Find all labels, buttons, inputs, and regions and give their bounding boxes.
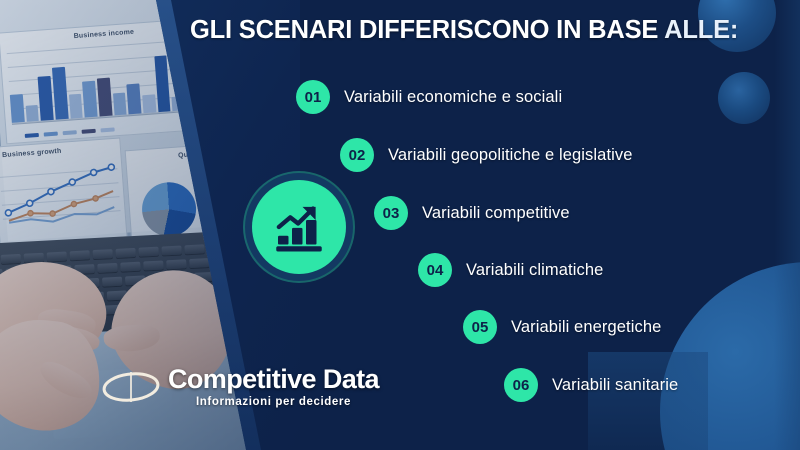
- list-item-number: 03: [374, 196, 408, 230]
- list-item-number: 02: [340, 138, 374, 172]
- logo-tagline: Informazioni per decidere: [168, 396, 379, 408]
- list-item-number: 05: [463, 310, 497, 344]
- list-item[interactable]: 05 Variabili energetiche: [463, 310, 661, 344]
- logo-text: Competitive Data Informazioni per decide…: [168, 366, 379, 408]
- list-item-label: Variabili sanitarie: [552, 376, 678, 395]
- list-item-number: 06: [504, 368, 538, 402]
- list-item[interactable]: 02 Variabili geopolitiche e legislative: [340, 138, 633, 172]
- list-item-label: Variabili climatiche: [466, 261, 603, 280]
- list-item[interactable]: 03 Variabili competitive: [374, 196, 570, 230]
- slide-canvas: Business income: [0, 0, 800, 450]
- logo: Competitive Data Informazioni per decide…: [100, 366, 379, 408]
- list-item[interactable]: 01 Variabili economiche e sociali: [296, 80, 562, 114]
- list-item-number: 04: [418, 253, 452, 287]
- list-item-label: Variabili economiche e sociali: [344, 88, 562, 107]
- logo-name: Competitive Data: [168, 366, 379, 393]
- list-item-label: Variabili geopolitiche e legislative: [388, 146, 633, 165]
- list-item[interactable]: 06 Variabili sanitarie: [504, 368, 678, 402]
- list-item-label: Variabili energetiche: [511, 318, 661, 337]
- ellipse-ring-icon: [100, 366, 162, 408]
- list-item[interactable]: 04 Variabili climatiche: [418, 253, 603, 287]
- list-item-label: Variabili competitive: [422, 204, 570, 223]
- list-item-number: 01: [296, 80, 330, 114]
